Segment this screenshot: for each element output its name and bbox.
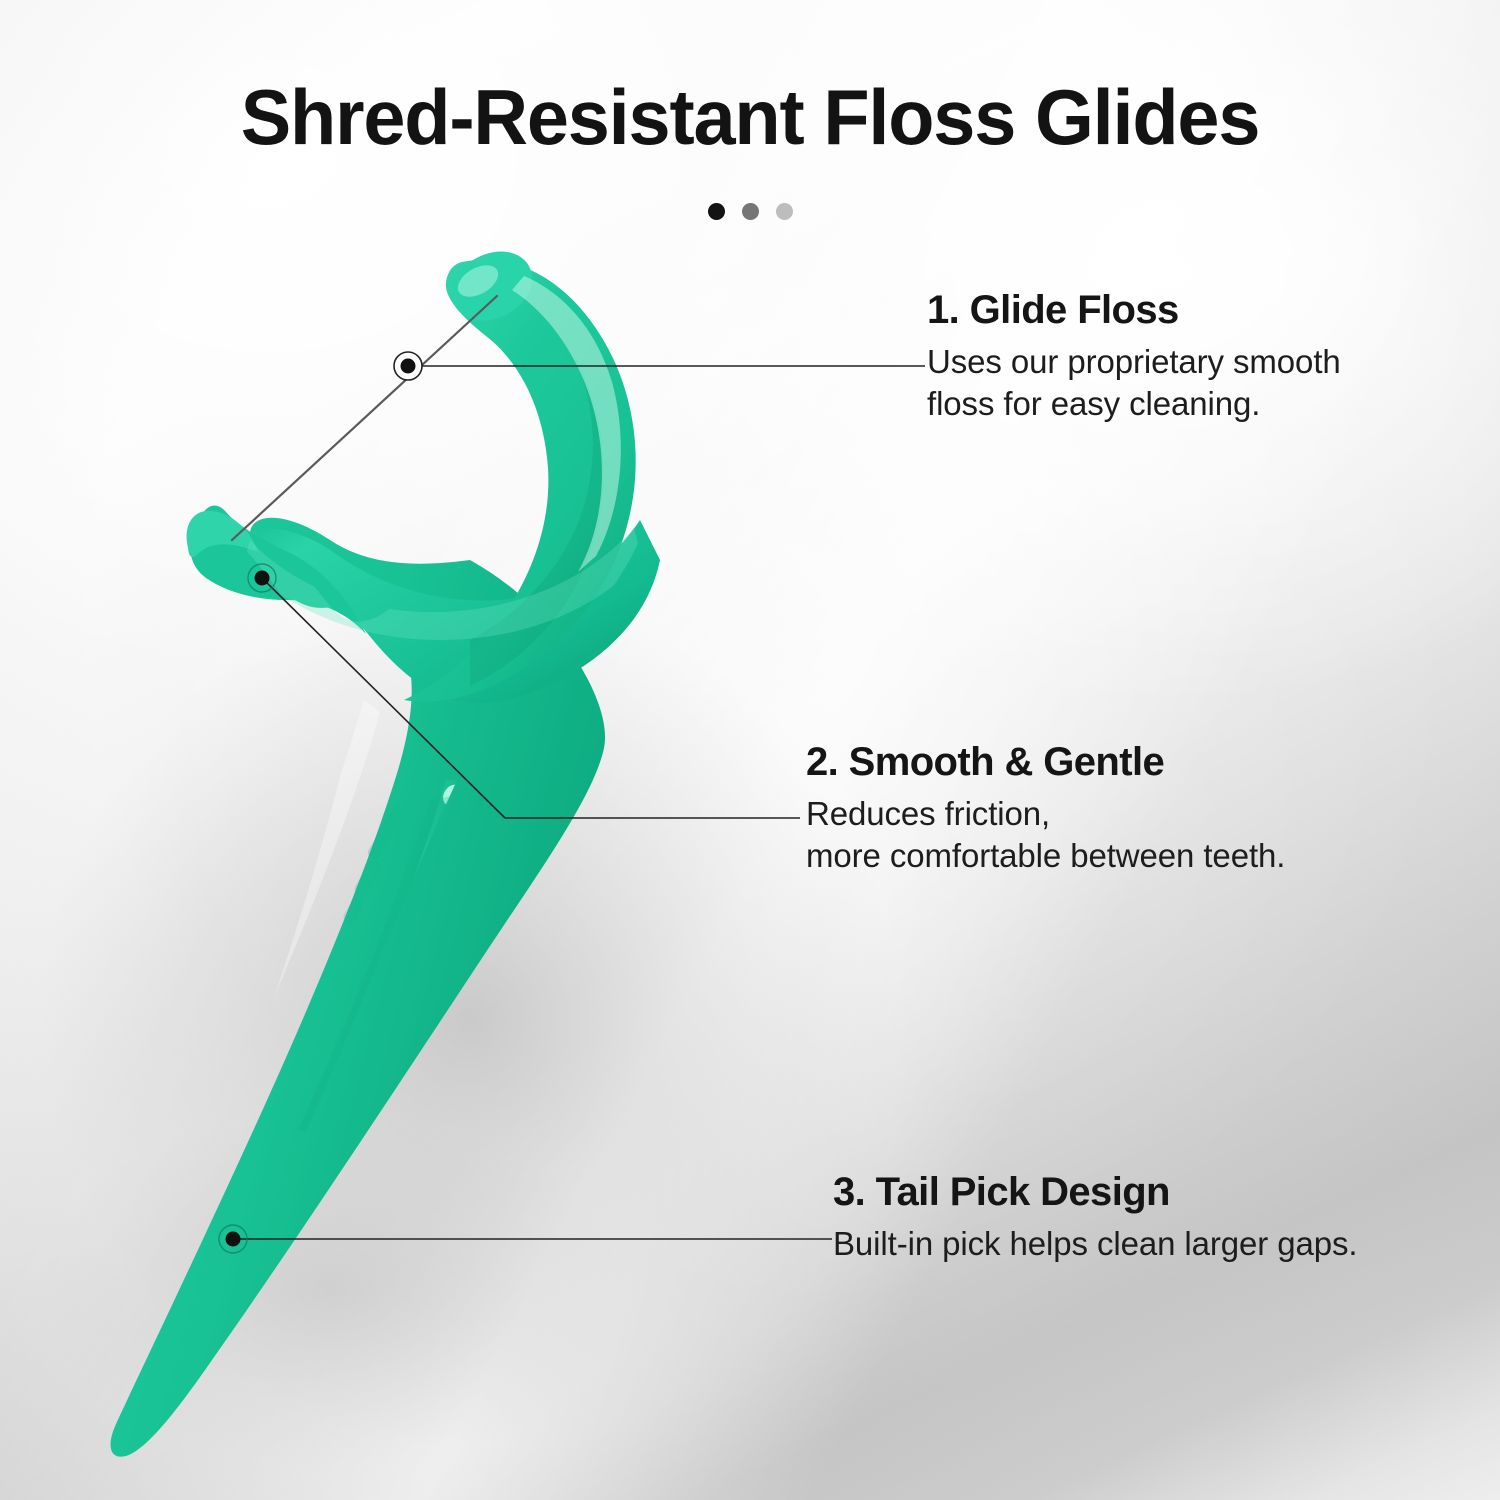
grip-mark-dot <box>439 781 464 808</box>
callout-markers <box>219 352 422 1253</box>
grip-mark-1 <box>366 803 407 861</box>
pagination-dot-3[interactable] <box>776 203 793 220</box>
product-shadow <box>40 590 900 1450</box>
callout-2-heading: 2. Smooth & Gentle <box>806 740 1285 785</box>
callout-1-body-line-1: Uses our proprietary smooth <box>927 341 1341 383</box>
gloss-secondary <box>184 700 380 1200</box>
gloss-arc-outer <box>512 276 621 572</box>
arc-top-tip <box>440 238 544 334</box>
grip-mark-2 <box>352 859 382 898</box>
product-shadow-tail <box>30 1110 630 1470</box>
page-title: Shred-Resistant Floss Glides <box>23 78 1478 158</box>
floss-pick-body <box>111 238 660 1457</box>
leader-line-2-diagonal <box>262 578 505 818</box>
callout-1-heading: 1. Glide Floss <box>927 288 1341 333</box>
pagination-dot-1[interactable] <box>708 203 725 220</box>
body-upper-plate <box>236 520 660 703</box>
callout-smooth-gentle: 2. Smooth & Gentle Reduces friction, mor… <box>806 740 1285 876</box>
infographic-canvas: Shred-Resistant Floss Glides <box>0 0 1500 1500</box>
pagination-dots <box>0 203 1500 220</box>
callout-3-heading: 3. Tail Pick Design <box>833 1170 1357 1215</box>
body-shading <box>118 276 642 1300</box>
callout-2-body-line-1: Reduces friction, <box>806 793 1285 835</box>
callout-3-body-line-1: Built-in pick helps clean larger gaps. <box>833 1223 1357 1265</box>
gloss-upper-plate <box>244 528 642 640</box>
body-left-prong-tip <box>187 511 258 557</box>
body-arc <box>404 260 636 702</box>
marker-glide-floss <box>394 352 422 380</box>
body-wedge <box>111 518 605 1457</box>
callout-glide-floss: 1. Glide Floss Uses our proprietary smoo… <box>927 288 1341 424</box>
grip-mark-3 <box>341 897 364 926</box>
body-channel <box>298 796 452 1134</box>
callout-tail-pick: 3. Tail Pick Design Built-in pick helps … <box>833 1170 1357 1265</box>
body-left-prong <box>191 505 366 634</box>
marker-smooth-gentle <box>248 564 276 592</box>
arc-tip-gloss <box>452 259 503 304</box>
marker-tail-pick <box>219 1225 247 1253</box>
gloss-left-edge <box>118 640 348 1300</box>
shade-right-flank <box>280 690 605 1300</box>
body-centre-ridge <box>300 780 474 1158</box>
callout-2-body-line-2: more comfortable between teeth. <box>806 835 1285 877</box>
shade-arc-inner <box>470 352 604 686</box>
pagination-dot-2[interactable] <box>742 203 759 220</box>
callout-1-body-line-2: floss for easy cleaning. <box>927 383 1341 425</box>
floss-thread <box>232 296 497 540</box>
